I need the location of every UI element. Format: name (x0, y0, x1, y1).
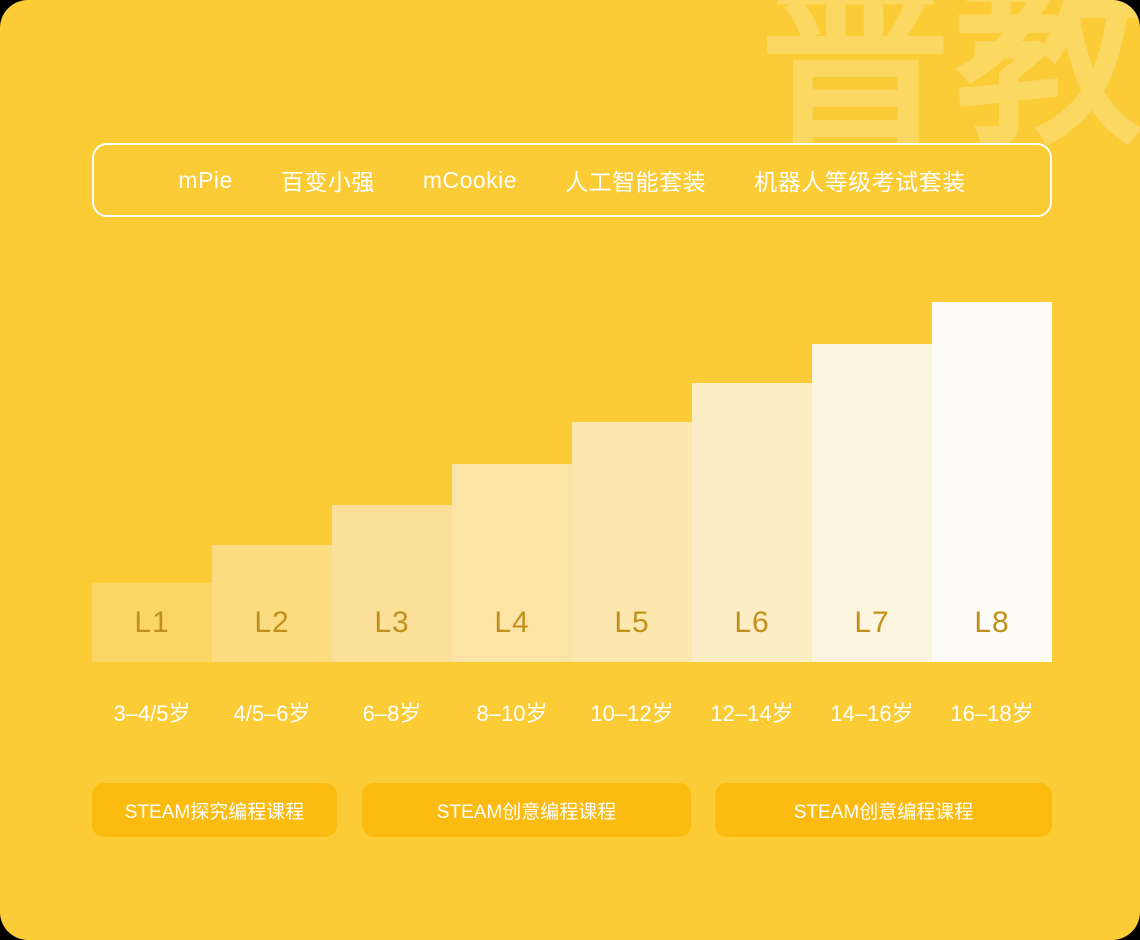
age-label-2: 4/5–6岁 (212, 696, 332, 728)
watermark-text: 普教 (760, 0, 1140, 156)
nav-item-5[interactable]: 机器人等级考试套装 (730, 163, 990, 197)
nav-item-2[interactable]: 百变小强 (257, 163, 399, 197)
bar-label-l5: L5 (614, 606, 649, 662)
level-bar-chart: L1L2L3L4L5L6L7L8 (92, 290, 1052, 662)
bar-label-l1: L1 (134, 606, 169, 662)
age-label-3: 6–8岁 (332, 696, 452, 728)
bar-label-l3: L3 (374, 606, 409, 662)
bar-label-l2: L2 (254, 606, 289, 662)
bar-l7[interactable]: L7 (812, 344, 932, 662)
course-pill-row: STEAM探究编程课程STEAM创意编程课程STEAM创意编程课程 (92, 783, 1052, 837)
bar-l2[interactable]: L2 (212, 545, 332, 662)
age-range-row: 3–4/5岁4/5–6岁6–8岁8–10岁10–12岁12–14岁14–16岁1… (92, 696, 1052, 728)
bar-label-l7: L7 (854, 606, 889, 662)
age-label-5: 10–12岁 (572, 696, 692, 728)
product-nav-bar: mPie百变小强mCookie人工智能套装机器人等级考试套装 (92, 143, 1052, 217)
course-pill-2[interactable]: STEAM创意编程课程 (362, 783, 691, 837)
nav-item-4[interactable]: 人工智能套装 (541, 163, 730, 197)
course-pill-3[interactable]: STEAM创意编程课程 (715, 783, 1052, 837)
bar-l6[interactable]: L6 (692, 383, 812, 662)
age-label-8: 16–18岁 (932, 696, 1052, 728)
bar-label-l8: L8 (974, 606, 1009, 662)
bar-l4[interactable]: L4 (452, 464, 572, 662)
course-pill-1[interactable]: STEAM探究编程课程 (92, 783, 337, 837)
bar-l3[interactable]: L3 (332, 505, 452, 662)
course-level-panel: 普教 mPie百变小强mCookie人工智能套装机器人等级考试套装 L1L2L3… (0, 0, 1140, 940)
age-label-1: 3–4/5岁 (92, 696, 212, 728)
age-label-6: 12–14岁 (692, 696, 812, 728)
age-label-7: 14–16岁 (812, 696, 932, 728)
bar-label-l4: L4 (494, 606, 529, 662)
nav-item-3[interactable]: mCookie (399, 167, 541, 194)
nav-item-1[interactable]: mPie (154, 167, 256, 194)
bar-label-l6: L6 (734, 606, 769, 662)
bar-l8[interactable]: L8 (932, 302, 1052, 662)
bar-l5[interactable]: L5 (572, 422, 692, 662)
age-label-4: 8–10岁 (452, 696, 572, 728)
bar-l1[interactable]: L1 (92, 583, 212, 662)
